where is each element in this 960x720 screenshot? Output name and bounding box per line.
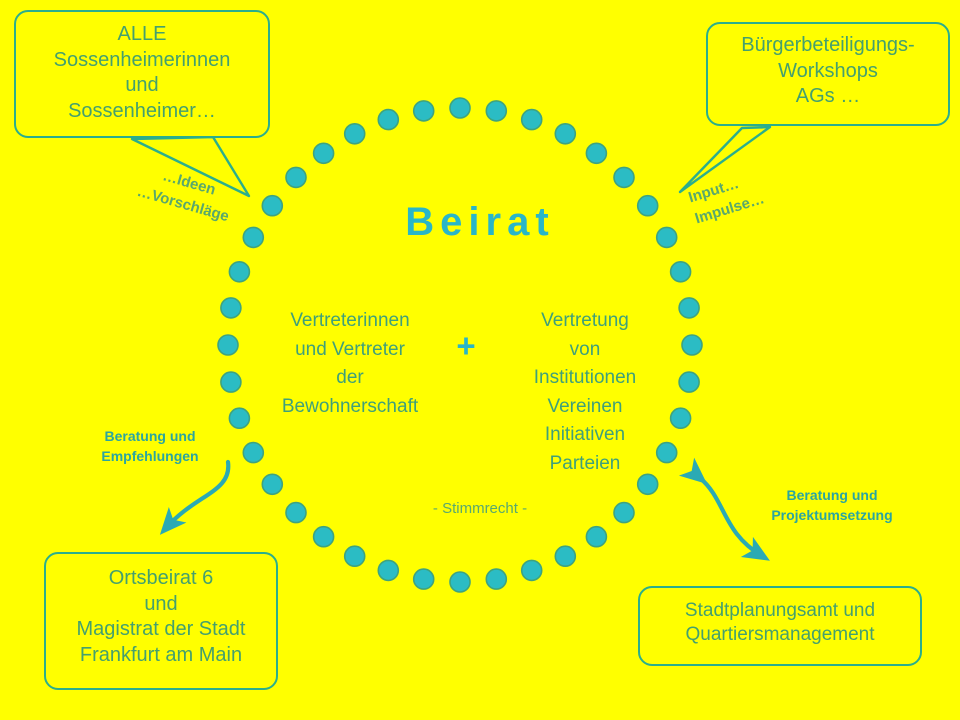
ring-dot	[555, 546, 575, 566]
ring-dot	[671, 262, 691, 282]
box-stadtplanung-text: Stadtplanungsamt und Quartiersmanagement	[640, 599, 920, 648]
annotation-beratung-empfehlungen: Beratung und Empfehlungen	[80, 427, 220, 467]
ring-dot	[586, 527, 606, 547]
ring-dot	[221, 298, 241, 318]
ring-dot	[555, 124, 575, 144]
ring-dot	[262, 474, 282, 494]
ring-dot	[345, 546, 365, 566]
ring-dot	[229, 262, 249, 282]
arrow-beratung-empfehlungen	[166, 462, 228, 528]
ring-dot	[221, 372, 241, 392]
ring-dot	[414, 101, 434, 121]
ring-dot	[522, 560, 542, 580]
ring-dot	[286, 167, 306, 187]
ring-dot	[586, 143, 606, 163]
ring-dot	[679, 372, 699, 392]
ring-dot	[218, 335, 238, 355]
column-bewohnerschaft: Vertreterinnen und Vertreter der Bewohne…	[256, 307, 444, 421]
ring-dot	[682, 335, 702, 355]
annotation-beratung-projektumsetzung: Beratung und Projektumsetzung	[744, 486, 920, 526]
bubble-workshops-text: Bürgerbeteiligungs- Workshops AGs …	[708, 33, 948, 110]
box-ortsbeirat-magistrat[interactable]: Ortsbeirat 6 und Magistrat der Stadt Fra…	[44, 552, 278, 690]
footnote-stimmrecht: - Stimmrecht -	[370, 500, 590, 517]
ring-dot	[229, 408, 249, 428]
ring-dot	[450, 98, 470, 118]
ring-dot	[614, 167, 634, 187]
box-ortsbeirat-text: Ortsbeirat 6 und Magistrat der Stadt Fra…	[46, 566, 276, 668]
ring-dot	[486, 101, 506, 121]
ring-dot	[378, 110, 398, 130]
ring-dot	[450, 572, 470, 592]
ring-dot	[243, 443, 263, 463]
bubble-residents-text: ALLE Sossenheimerinnen und Sossenheimer…	[16, 22, 268, 124]
ring-dot	[679, 298, 699, 318]
ring-dot	[314, 527, 334, 547]
column-institutionen: Vertretung von Institutionen Vereinen In…	[490, 307, 680, 478]
box-stadtplanungsamt-quartiersmanagement[interactable]: Stadtplanungsamt und Quartiersmanagement	[638, 586, 922, 666]
ring-dot	[286, 503, 306, 523]
ring-dot	[378, 560, 398, 580]
diagram-title: Beirat	[0, 200, 960, 245]
ring-dot	[314, 143, 334, 163]
ring-dot	[614, 503, 634, 523]
bubble-participation-workshops[interactable]: Bürgerbeteiligungs- Workshops AGs …	[706, 22, 950, 126]
bubble-all-residents[interactable]: ALLE Sossenheimerinnen und Sossenheimer…	[14, 10, 270, 138]
ring-dot	[486, 569, 506, 589]
diagram-canvas: ALLE Sossenheimerinnen und Sossenheimer……	[0, 0, 960, 720]
ring-dot	[414, 569, 434, 589]
ring-dot	[522, 110, 542, 130]
ring-dot	[345, 124, 365, 144]
plus-icon: +	[446, 329, 486, 362]
